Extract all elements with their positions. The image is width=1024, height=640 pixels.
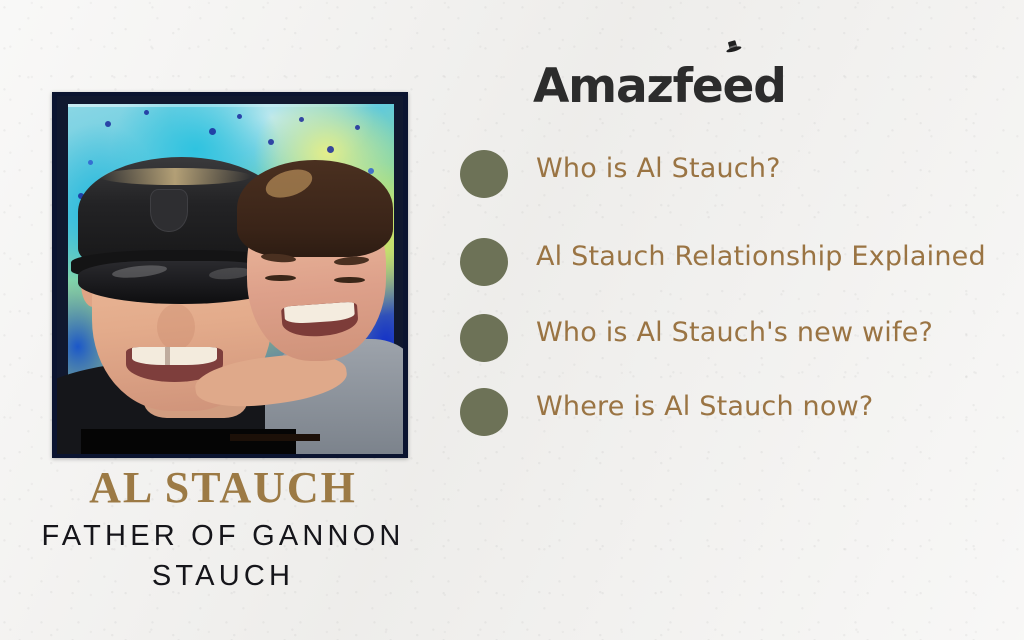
man-teeth (132, 347, 217, 366)
photo-panel: AL STAUCH FATHER OF GANNON STAUCH (0, 0, 446, 640)
list-item[interactable]: Al Stauch Relationship Explained (460, 236, 1024, 286)
subject-name-caption: AL STAUCH (0, 466, 446, 510)
nfl-shield-logo-icon (150, 189, 188, 232)
photo-bottom-bar-secondary (230, 434, 320, 442)
boy-hair (237, 160, 393, 257)
subject-photo (57, 96, 403, 454)
paint-speck (144, 110, 149, 115)
question-label: Al Stauch Relationship Explained (536, 236, 986, 275)
question-label: Who is Al Stauch's new wife? (536, 312, 933, 351)
infographic-stage: AL STAUCH FATHER OF GANNON STAUCH Amazfe… (0, 0, 1024, 640)
paint-speck (237, 114, 242, 119)
logo-text-part-b: e (723, 59, 754, 114)
photo-edge-top (57, 96, 403, 104)
logo-hat-letter: e (723, 63, 754, 110)
amazfeed-logo[interactable]: Amazfeed (533, 63, 786, 110)
question-label: Who is Al Stauch? (536, 148, 781, 187)
question-label: Where is Al Stauch now? (536, 386, 873, 425)
list-item[interactable]: Where is Al Stauch now? (460, 386, 1024, 436)
list-item[interactable]: Who is Al Stauch's new wife? (460, 312, 1024, 362)
list-item[interactable]: Who is Al Stauch? (460, 148, 1024, 198)
paint-speck (327, 146, 334, 153)
bullet-dot-icon (460, 314, 508, 362)
questions-panel: Amazfeed Who is Al Stauch? Al Stauch Rel… (446, 0, 1024, 640)
bullet-dot-icon (460, 238, 508, 286)
man-teeth-gap (165, 347, 170, 366)
logo-text-part-c: d (753, 59, 785, 114)
bullet-dot-icon (460, 388, 508, 436)
paint-speck (268, 139, 274, 145)
top-hat-icon (724, 39, 744, 59)
subject-photo-frame (52, 92, 408, 458)
bullet-dot-icon (460, 150, 508, 198)
logo-text-part-a: Amazfe (533, 59, 723, 114)
paint-speck (355, 125, 360, 130)
subject-role-caption: FATHER OF GANNON STAUCH (0, 516, 446, 596)
questions-list: Who is Al Stauch? Al Stauch Relationship… (460, 148, 1024, 452)
